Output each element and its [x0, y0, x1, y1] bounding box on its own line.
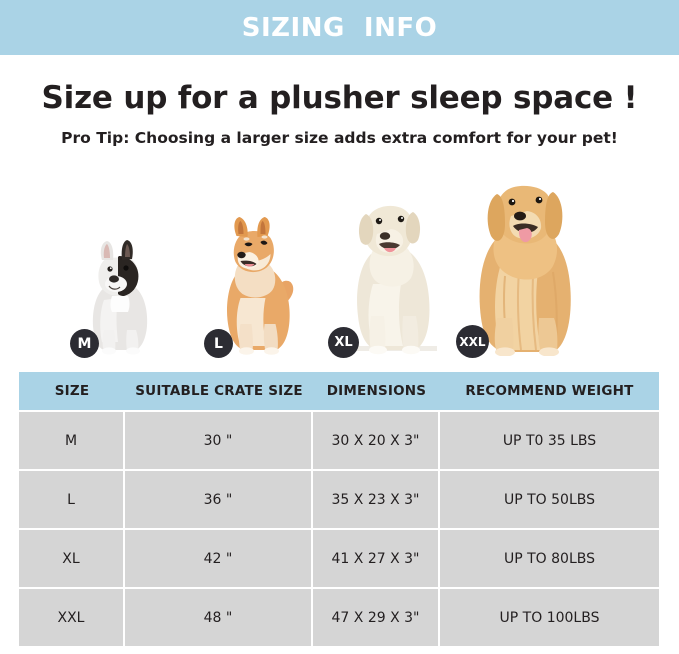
- cell-dimensions: 30 X 20 X 3": [313, 412, 440, 469]
- dog-item-xl: XL: [318, 161, 468, 361]
- table-row: M 30 " 30 X 20 X 3" UP T0 35 LBS: [19, 412, 659, 469]
- column-header-crate-size: SUITABLE CRATE SIZE: [125, 372, 313, 410]
- dog-item-xxl: XXL: [452, 161, 602, 361]
- dog-item-l: L: [182, 161, 332, 361]
- size-badge-l: L: [204, 329, 233, 358]
- cell-crate: 42 ": [125, 530, 313, 587]
- table-row: XL 42 " 41 X 27 X 3" UP TO 80LBS: [19, 530, 659, 587]
- cell-crate: 30 ": [125, 412, 313, 469]
- cell-weight: UP TO 100LBS: [440, 589, 659, 646]
- table-header-row: SIZE SUITABLE CRATE SIZE DIMENSIONS RECO…: [19, 372, 659, 410]
- sizing-table: SIZE SUITABLE CRATE SIZE DIMENSIONS RECO…: [19, 372, 659, 646]
- cell-weight: UP T0 35 LBS: [440, 412, 659, 469]
- size-badge-m: M: [70, 329, 99, 358]
- column-header-weight: RECOMMEND WEIGHT: [440, 372, 659, 410]
- table-row: XXL 48 " 47 X 29 X 3" UP TO 100LBS: [19, 589, 659, 646]
- cell-size: L: [19, 471, 125, 528]
- page-title: Size up for a plusher sleep space !: [0, 81, 679, 115]
- dog-item-m: M: [45, 161, 195, 361]
- cell-size: XL: [19, 530, 125, 587]
- cell-dimensions: 35 X 23 X 3": [313, 471, 440, 528]
- pro-tip-subtitle: Pro Tip: Choosing a larger size adds ext…: [0, 129, 679, 147]
- cell-dimensions: 41 X 27 X 3": [313, 530, 440, 587]
- table-row: L 36 " 35 X 23 X 3" UP TO 50LBS: [19, 471, 659, 528]
- cell-crate: 48 ": [125, 589, 313, 646]
- cell-dimensions: 47 X 29 X 3": [313, 589, 440, 646]
- size-badge-xxl: XXL: [456, 325, 489, 358]
- size-badge-xl: XL: [328, 327, 359, 358]
- cell-weight: UP TO 50LBS: [440, 471, 659, 528]
- dog-size-comparison: M: [0, 161, 679, 361]
- banner-title: SIZING INFO: [242, 13, 437, 43]
- cell-size: XXL: [19, 589, 125, 646]
- cell-crate: 36 ": [125, 471, 313, 528]
- column-header-dimensions: DIMENSIONS: [313, 372, 440, 410]
- headline-section: Size up for a plusher sleep space ! Pro …: [0, 55, 679, 147]
- column-header-size: SIZE: [19, 372, 125, 410]
- sizing-info-banner: SIZING INFO: [0, 0, 679, 55]
- cell-size: M: [19, 412, 125, 469]
- cell-weight: UP TO 80LBS: [440, 530, 659, 587]
